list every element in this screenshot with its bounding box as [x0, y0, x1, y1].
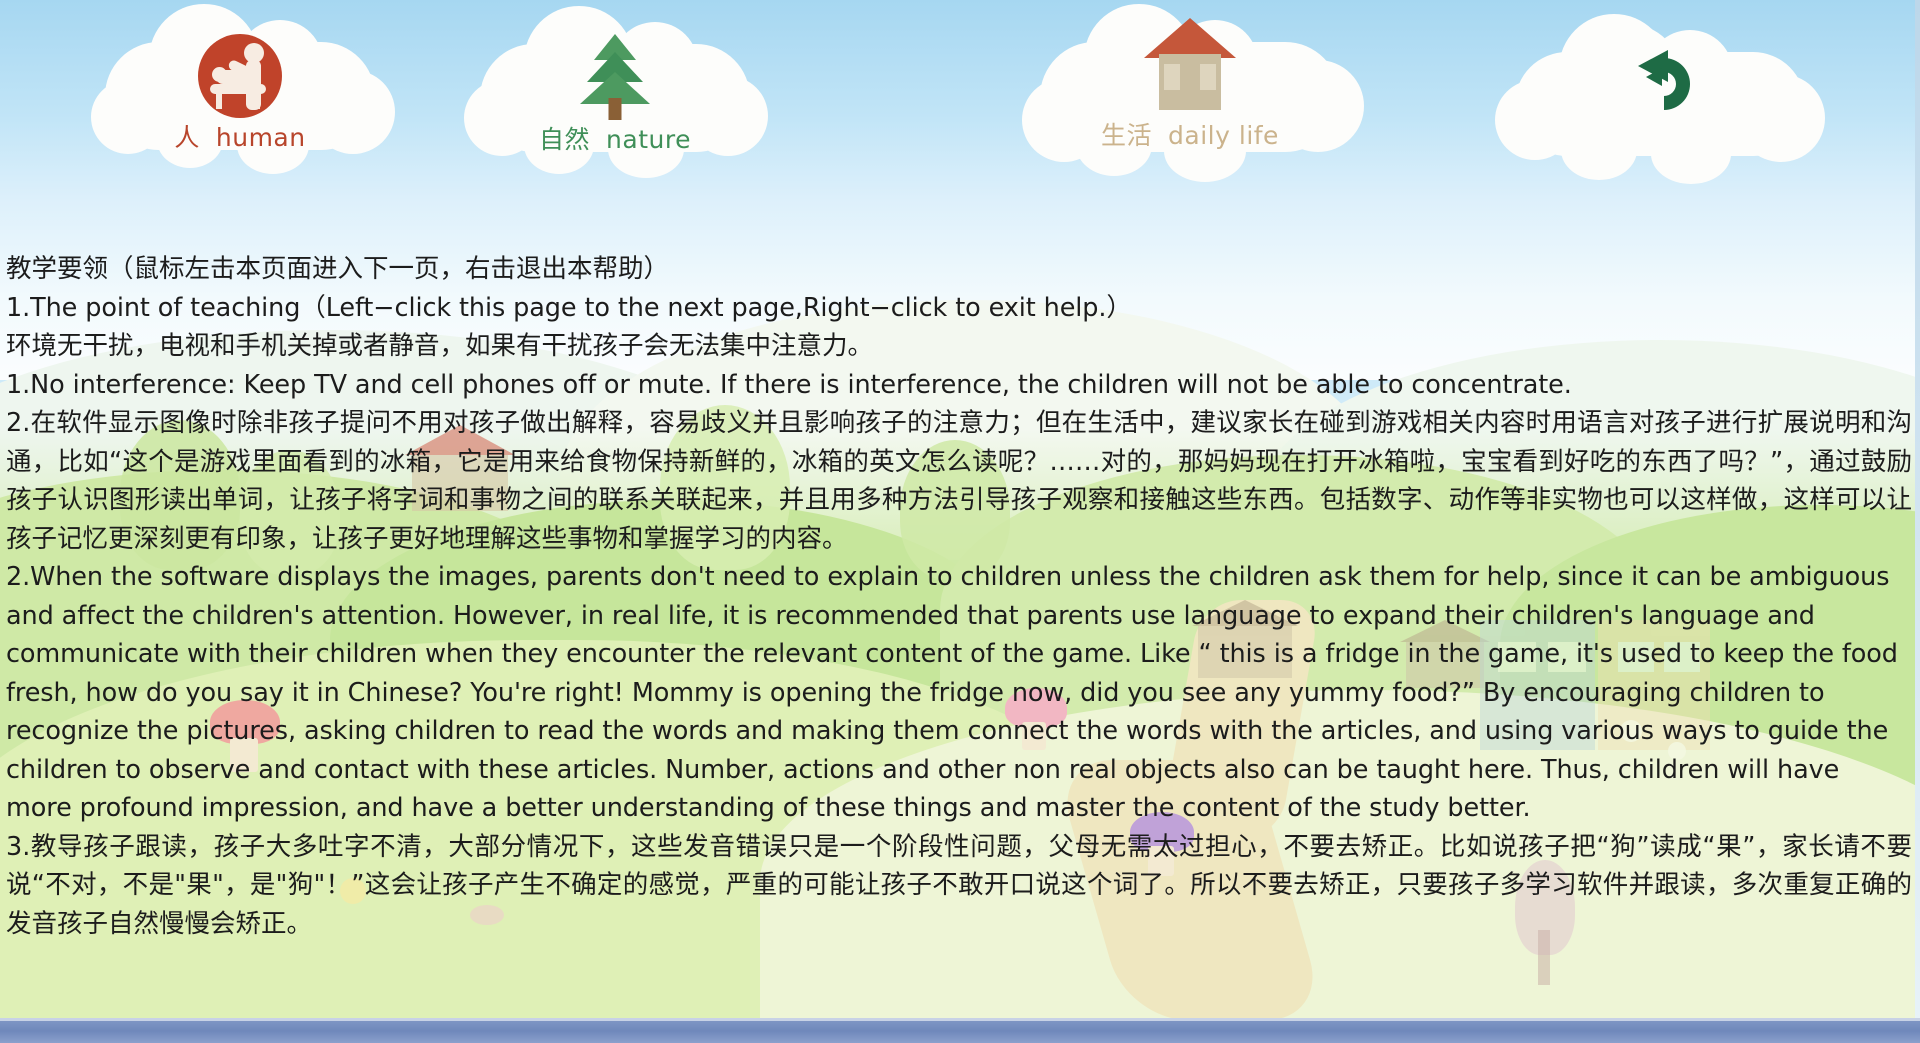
bottom-status-bar[interactable]: [0, 1021, 1920, 1043]
help-item2-cn: 2.在软件显示图像时除非孩子提问不用对孩子做出解释，容易歧义并且影响孩子的注意力…: [6, 404, 1912, 558]
cloud-lobe-bottom-back: [1561, 120, 1637, 180]
help-page-stage[interactable]: 人human 自然nature: [0, 0, 1920, 1043]
cloud-label-daily-cn: 生活: [1101, 122, 1152, 150]
cloud-label-nature-en: nature: [606, 125, 691, 154]
cloud-label-human-en: human: [216, 123, 306, 152]
pine-tree-icon: [480, 28, 750, 120]
house-icon: [1040, 8, 1340, 110]
category-cloud-bar: 人human 自然nature: [0, 0, 1920, 200]
help-item2-en: 2.When the software displays the images,…: [6, 558, 1912, 828]
cloud-label-human: 人human: [105, 118, 375, 154]
cloud-button-human[interactable]: 人human: [105, 8, 375, 178]
help-heading-cn: 教学要领（鼠标左击本页面进入下一页，右击退出本帮助）: [6, 250, 1912, 289]
cloud-button-daily-life[interactable]: 生活daily life: [1040, 2, 1340, 172]
cloud-button-back[interactable]: [1515, 18, 1805, 188]
right-edge-strip: [1915, 0, 1920, 1021]
cloud-label-nature: 自然nature: [480, 120, 750, 156]
mother-and-baby-icon: [105, 26, 375, 118]
cloud-label-human-cn: 人: [174, 124, 200, 152]
cloud-button-nature[interactable]: 自然nature: [480, 10, 750, 180]
cloud-label-daily-en: daily life: [1168, 121, 1279, 150]
cloud-label-nature-cn: 自然: [539, 126, 590, 154]
cloud-label-daily-life: 生活daily life: [1040, 116, 1340, 152]
cloud-lobe-bottom2-back: [1651, 124, 1731, 184]
help-text-panel: 教学要领（鼠标左击本页面进入下一页，右击退出本帮助） 1.The point o…: [0, 250, 1920, 943]
help-item1-cn: 环境无干扰，电视和手机关掉或者静音，如果有干扰孩子会无法集中注意力。: [6, 327, 1912, 366]
back-arrow-icon: [1515, 36, 1805, 126]
help-item3-cn: 3.教导孩子跟读，孩子大多吐字不清，大部分情况下，这些发音错误只是一个阶段性问题…: [6, 828, 1912, 944]
help-heading-en: 1.The point of teaching（Left−click this …: [6, 289, 1912, 328]
help-item1-en: 1.No interference: Keep TV and cell phon…: [6, 366, 1912, 405]
